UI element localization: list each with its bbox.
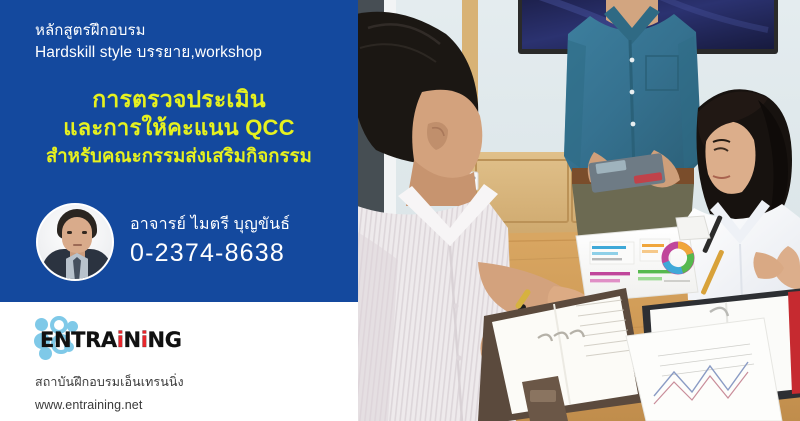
headline-line2: และการให้คะแนน QCC bbox=[0, 115, 358, 141]
avatar-eye-right bbox=[82, 231, 87, 234]
logo-word-tra: TRA bbox=[71, 328, 117, 352]
avatar-eye-left bbox=[67, 231, 72, 234]
instructor-name: อาจารย์ ไมตรี บุญขันธ์ bbox=[130, 215, 290, 236]
meeting-photo bbox=[358, 0, 800, 421]
avatar bbox=[36, 203, 114, 281]
entraining-logo[interactable]: ENTRAiNiNG bbox=[34, 316, 214, 360]
avatar-mouth bbox=[73, 244, 82, 246]
logo-word-i1: i bbox=[117, 328, 124, 352]
instructor-phone[interactable]: 0-2374-8638 bbox=[130, 238, 290, 269]
standing-man bbox=[564, 0, 702, 236]
logo-word-ng: NG bbox=[148, 328, 182, 352]
course-label-line1: หลักสูตรฝึกอบรม bbox=[35, 20, 345, 42]
loose-paper-chart bbox=[626, 318, 782, 421]
photo-illustration bbox=[358, 0, 800, 421]
footer: ENTRAiNiNG สถาบันฝึกอบรมเอ็นเทรนนิ่ง www… bbox=[0, 302, 358, 421]
avatar-face bbox=[62, 217, 92, 253]
training-course-poster: หลักสูตรฝึกอบรม Hardskill style บรรยาย,w… bbox=[0, 0, 800, 421]
logo-word-n2: N bbox=[124, 328, 141, 352]
organization-name: สถาบันฝึกอบรมเอ็นเทรนนิ่ง bbox=[35, 372, 184, 392]
instructor-block: อาจารย์ ไมตรี บุญขันธ์ 0-2374-8638 bbox=[36, 203, 290, 281]
headline-line3: สำหรับคณะกรรมส่งเสริมกิจกรรม bbox=[0, 145, 358, 167]
blue-info-panel: หลักสูตรฝึกอบรม Hardskill style บรรยาย,w… bbox=[0, 0, 358, 302]
course-label-line2: Hardskill style บรรยาย,workshop bbox=[35, 42, 345, 64]
logo-wordmark: ENTRAiNiNG bbox=[40, 328, 182, 352]
instructor-text: อาจารย์ ไมตรี บุญขันธ์ 0-2374-8638 bbox=[130, 215, 290, 269]
headline-line1: การตรวจประเมิน bbox=[0, 86, 358, 113]
page-title: การตรวจประเมิน และการให้คะแนน QCC สำหรับ… bbox=[0, 86, 358, 167]
logo-word-en: E bbox=[40, 328, 54, 352]
course-label: หลักสูตรฝึกอบรม Hardskill style บรรยาย,w… bbox=[35, 20, 345, 64]
logo-word-i2: i bbox=[141, 328, 148, 352]
website-url[interactable]: www.entraining.net bbox=[35, 398, 142, 412]
logo-word-n: N bbox=[54, 328, 71, 352]
